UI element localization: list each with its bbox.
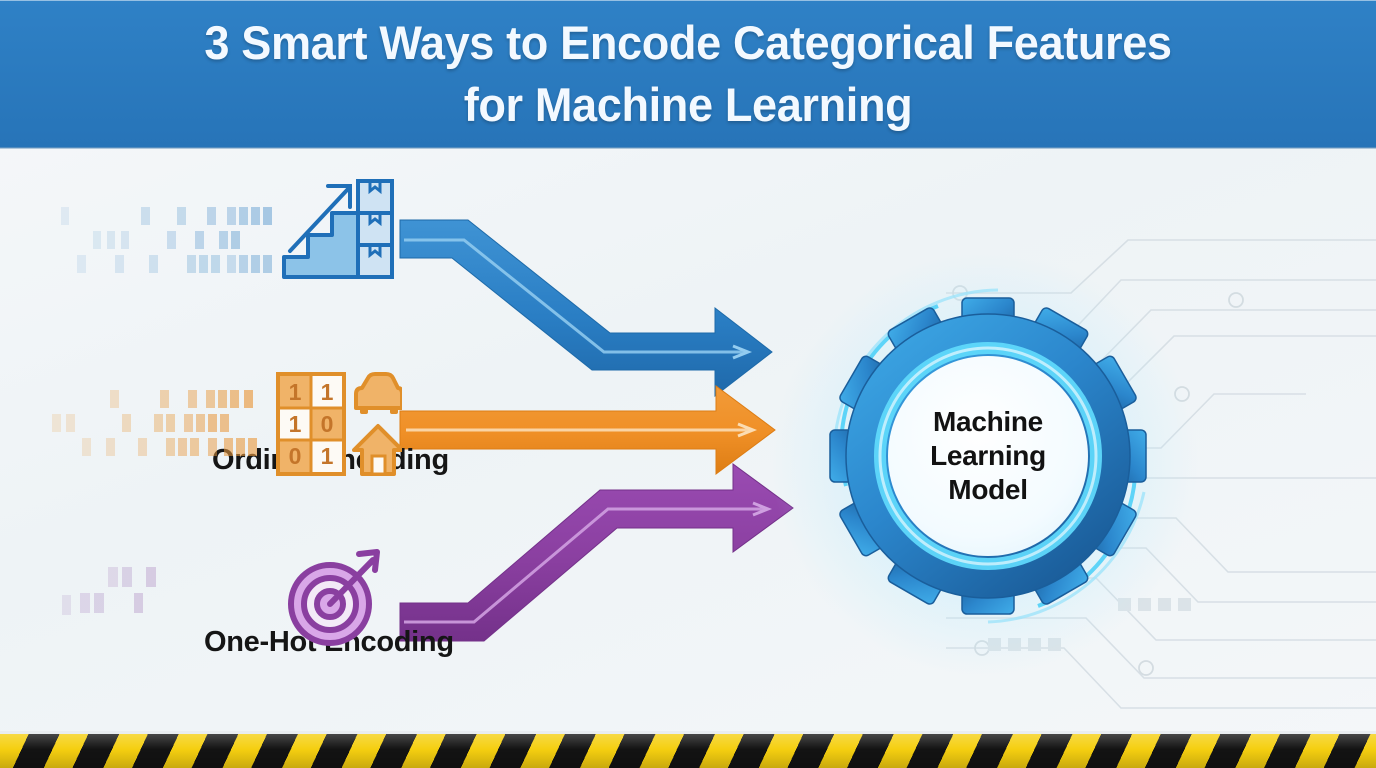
model-label: Machine Learning Model xyxy=(788,256,1188,656)
car-icon xyxy=(356,374,402,408)
arrow-target-to-model xyxy=(400,464,793,641)
svg-text:1: 1 xyxy=(289,379,302,405)
house-door xyxy=(372,456,385,474)
diagram-stage: Machine Learning Model xyxy=(0,148,1376,734)
model-label-line-3: Model xyxy=(948,473,1027,507)
onehot-matrix: 11 10 01 xyxy=(278,374,344,474)
infographic-poster: 3 Smart Ways to Encode Categorical Featu… xyxy=(0,0,1376,768)
target-bullseye-icon xyxy=(283,548,387,648)
title-line-1: 3 Smart Ways to Encode Categorical Featu… xyxy=(204,16,1171,69)
arrow-onehot-to-model xyxy=(400,386,775,474)
svg-text:1: 1 xyxy=(289,411,302,437)
svg-text:1: 1 xyxy=(321,379,334,405)
arrow-ordinal-to-model xyxy=(400,220,772,396)
title-banner: 3 Smart Ways to Encode Categorical Featu… xyxy=(0,0,1376,148)
svg-text:0: 0 xyxy=(321,411,334,437)
hazard-stripe-shading xyxy=(0,734,1376,768)
stairs-boxes-icon xyxy=(278,173,400,283)
svg-text:0: 0 xyxy=(289,443,302,469)
title-line-2: for Machine Learning xyxy=(28,74,1349,136)
page-title: 3 Smart Ways to Encode Categorical Featu… xyxy=(28,12,1349,136)
hazard-stripe-footer xyxy=(0,731,1376,768)
svg-text:1: 1 xyxy=(321,443,334,469)
model-label-line-1: Machine xyxy=(933,405,1043,439)
target-data-blocks xyxy=(60,563,165,623)
model-label-line-2: Learning xyxy=(930,439,1046,473)
binary-matrix-car-house-icon: 11 10 01 xyxy=(276,372,402,476)
onehot-data-blocks xyxy=(48,386,288,466)
ordinal-data-blocks xyxy=(55,203,285,283)
